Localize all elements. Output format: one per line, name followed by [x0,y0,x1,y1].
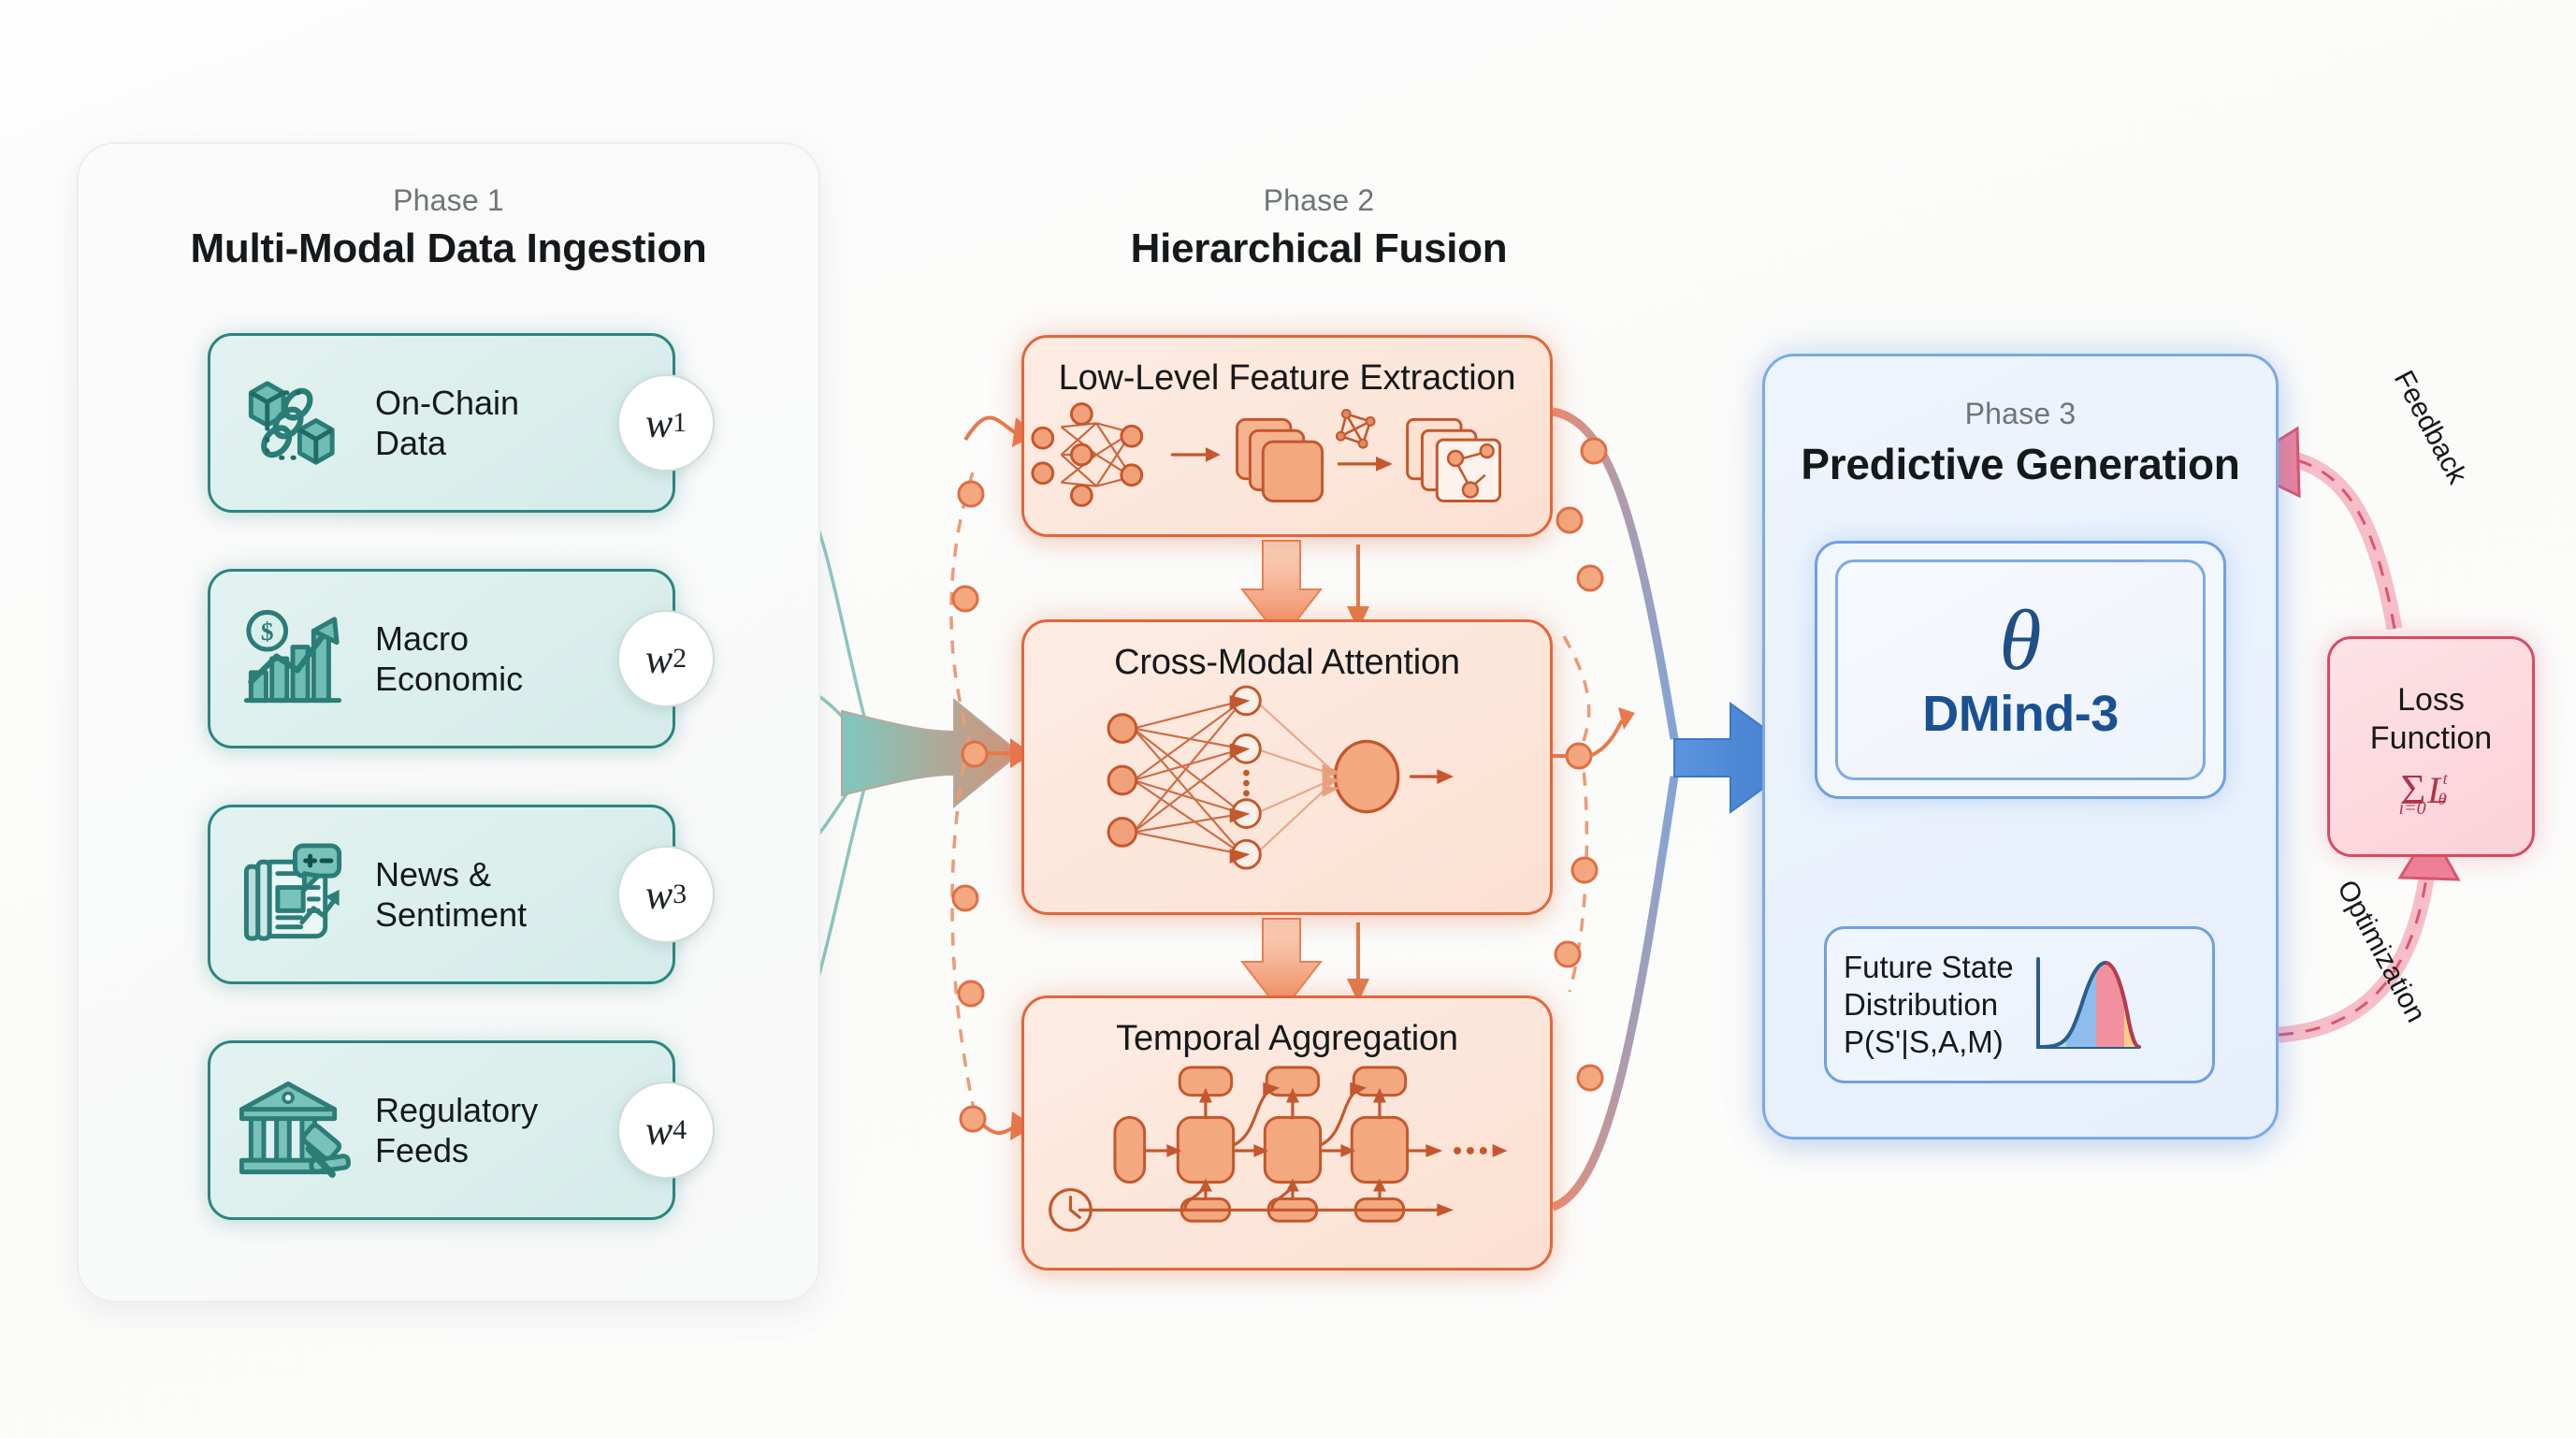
data-source-label: Regulatory Feeds [375,1090,538,1170]
weight-badge-w4: w4 [617,1082,715,1179]
data-source-card-news-sentiment[interactable]: News & Sentiment [208,805,675,984]
loss-function-title: Loss Function [2370,681,2492,756]
phase1-header: Phase 1 Multi-Modal Data Ingestion [77,183,820,272]
neural-net-to-feature-stack-to-graph-icon [1024,399,1550,511]
data-source-card-regulatory-feeds[interactable]: Regulatory Feeds [208,1040,675,1220]
weight-index: 4 [673,1114,687,1146]
phase2-header: Phase 2 Hierarchical Fusion [991,183,1646,272]
theta-symbol: θ [1999,597,2041,683]
phase3-kicker: Phase 3 [1762,397,2279,431]
phase2-input-dashed-curve [951,472,975,1113]
fusion-block-low-level-feature-extraction[interactable]: Low-Level Feature Extraction [1021,335,1553,537]
fusion-block-title: Temporal Aggregation [1024,1019,1550,1059]
phase2-output-rails [1553,412,1674,1207]
phase2-input-nodes [953,482,987,1131]
weight-index: 1 [673,407,687,439]
feedback-curve-label: Feedback [2387,366,2473,489]
loss-function-card[interactable]: Loss Function Σ i=0 L t θ [2327,636,2535,857]
weight-symbol: w [645,1107,673,1155]
phase2-output-nodes [1556,439,1606,1090]
weight-symbol: w [645,399,673,447]
phase2-kicker: Phase 2 [991,183,1646,218]
newspaper-sentiment-icon [235,836,351,952]
phase2-output-stub [1553,720,1622,756]
fusion-block-title: Cross-Modal Attention [1024,643,1550,683]
phase3-header: Phase 3 Predictive Generation [1762,397,2279,489]
fusion-block-cross-modal-attention[interactable]: Cross-Modal Attention [1021,619,1553,915]
fusion-block-title: Low-Level Feature Extraction [1024,358,1550,399]
fusion-block-temporal-aggregation[interactable]: Temporal Aggregation [1021,995,1553,1271]
data-source-label: News & Sentiment [375,854,527,935]
courthouse-gavel-icon [235,1072,351,1188]
sigma-lower-bound: i=0 [2399,798,2426,820]
loss-superscript: t [2443,769,2448,789]
future-state-distribution-label: Future State Distribution P(S'|S,A,M) [1844,949,2014,1062]
phase1-to-phase2-arrow [842,700,1020,806]
svg-text:$: $ [261,617,274,646]
probability-distribution-curve-icon [2023,950,2145,1060]
weight-index: 2 [673,643,687,675]
model-name-label: DMind-3 [1922,685,2118,743]
dollar-growth-bar-chart-icon: $ [235,601,351,717]
phase2-input-solid-stubs [965,417,1018,1132]
attention-network-fanin-icon [1024,683,1550,879]
architecture-diagram-canvas: Phase 1 Multi-Modal Data Ingestion On-Ch… [0,0,2576,1438]
recurrent-cells-timeline-icon [1024,1059,1550,1237]
future-state-distribution-card[interactable]: Future State Distribution P(S'|S,A,M) [1824,926,2215,1083]
phase2-title: Hierarchical Fusion [991,225,1646,272]
model-card-dmind3[interactable]: θ DMind-3 [1835,559,2206,780]
weight-badge-w1: w1 [617,374,715,472]
phase3-title: Predictive Generation [1762,439,2279,489]
data-source-label: Macro Economic [375,618,523,699]
data-source-card-macro-economic[interactable]: $ Macro Economic [208,569,675,748]
phase2-output-arrowhead [1618,707,1635,730]
weight-badge-w2: w2 [617,610,715,707]
data-source-label: On-Chain Data [375,383,519,463]
data-source-card-on-chain[interactable]: On-Chain Data [208,333,675,513]
weight-symbol: w [645,871,673,919]
phase1-title: Multi-Modal Data Ingestion [77,225,820,272]
loss-function-formula: Σ i=0 L t θ [2401,768,2462,812]
weight-badge-w3: w3 [617,846,715,943]
loss-subscript: θ [2439,790,2447,809]
weight-index: 3 [673,879,687,910]
phase1-kicker: Phase 1 [77,183,820,218]
weight-symbol: w [645,635,673,683]
optimization-curve-label: Optimization [2330,875,2431,1027]
phase2-output-dashed-curve [1564,636,1589,992]
blockchain-cube-chain-icon [235,365,351,481]
